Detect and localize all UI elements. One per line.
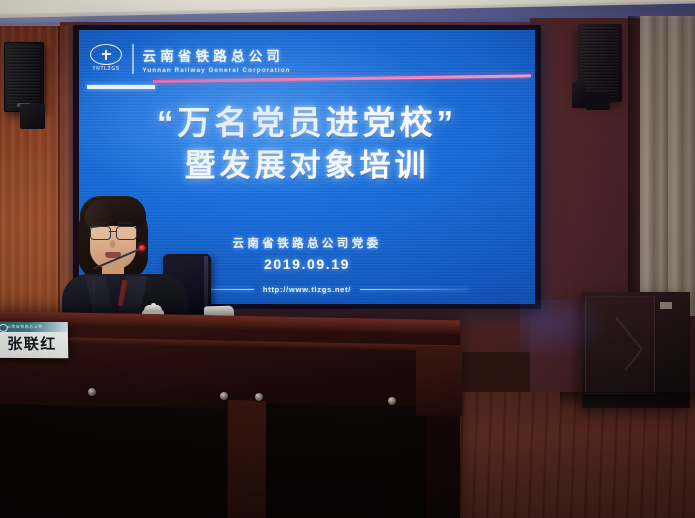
- cabinet-shadow: [560, 392, 695, 408]
- conference-room-photo: YNTLZGS 云南省铁路总公司 Yunnan Railway General …: [0, 0, 695, 518]
- teacup-knob: [151, 303, 156, 307]
- microphone-indicator-icon: [139, 245, 145, 251]
- brand-name-chinese: 云南省铁路总公司: [143, 45, 291, 65]
- eyebrow-right: [118, 222, 132, 224]
- eyeglasses-icon: [89, 226, 137, 239]
- desk-panel-left: [0, 404, 226, 518]
- lens-right: [116, 226, 137, 240]
- female-speaker: [60, 196, 190, 331]
- header-rule-pink: [153, 74, 531, 83]
- slide-title-block: “万名党员进党校” 暨发展对象培训: [79, 102, 535, 186]
- eyebrow-left: [93, 222, 107, 224]
- speaker-mount-right: [572, 82, 586, 108]
- speaker-mount-left: [20, 104, 45, 129]
- desk-panel-divider: [228, 400, 266, 518]
- slide-title-line-1: “万名党员进党校”: [79, 102, 535, 144]
- slide-title-line-2: 暨发展对象培训: [79, 146, 535, 186]
- desk-panel-right: [266, 404, 426, 518]
- nose: [110, 240, 115, 248]
- brand-block: 云南省铁路总公司 Yunnan Railway General Corporat…: [143, 45, 291, 74]
- emblem-pinyin: YNTLZGS: [92, 66, 120, 72]
- cabinet-label: [660, 302, 672, 309]
- nameplate-name-text: 张联红: [0, 333, 68, 354]
- speaker-grille: [581, 27, 619, 99]
- desk-stud: [388, 397, 396, 405]
- chair-edge: [204, 256, 208, 312]
- desk-stud: [220, 392, 228, 400]
- nameplate-org-text: 云南省铁路总公司: [7, 323, 43, 329]
- glasses-bridge: [109, 231, 116, 232]
- speaker-bracket-right: [586, 92, 610, 110]
- emblem-mark: [102, 50, 111, 60]
- window-curtain: [640, 16, 695, 316]
- footer-rule-right: [360, 289, 468, 290]
- desk-side-block: [416, 346, 462, 417]
- desk-stud: [88, 388, 96, 396]
- nameplate: 云南省铁路总公司 张联红: [0, 322, 68, 358]
- emblem-oval: [90, 44, 122, 65]
- railway-emblem-icon: YNTLZGS: [89, 44, 123, 74]
- slide-url: http://www.tlzgs.net/: [263, 285, 351, 294]
- brand-name-english: Yunnan Railway General Corporation: [143, 67, 291, 74]
- header-rule-white: [87, 85, 155, 89]
- slide-header: YNTLZGS 云南省铁路总公司 Yunnan Railway General …: [89, 44, 291, 74]
- lens-left: [90, 226, 111, 240]
- desk-stud: [255, 393, 263, 401]
- speaker-grille: [8, 46, 40, 108]
- loudspeaker-icon-left: [4, 42, 44, 112]
- header-divider: [132, 44, 134, 74]
